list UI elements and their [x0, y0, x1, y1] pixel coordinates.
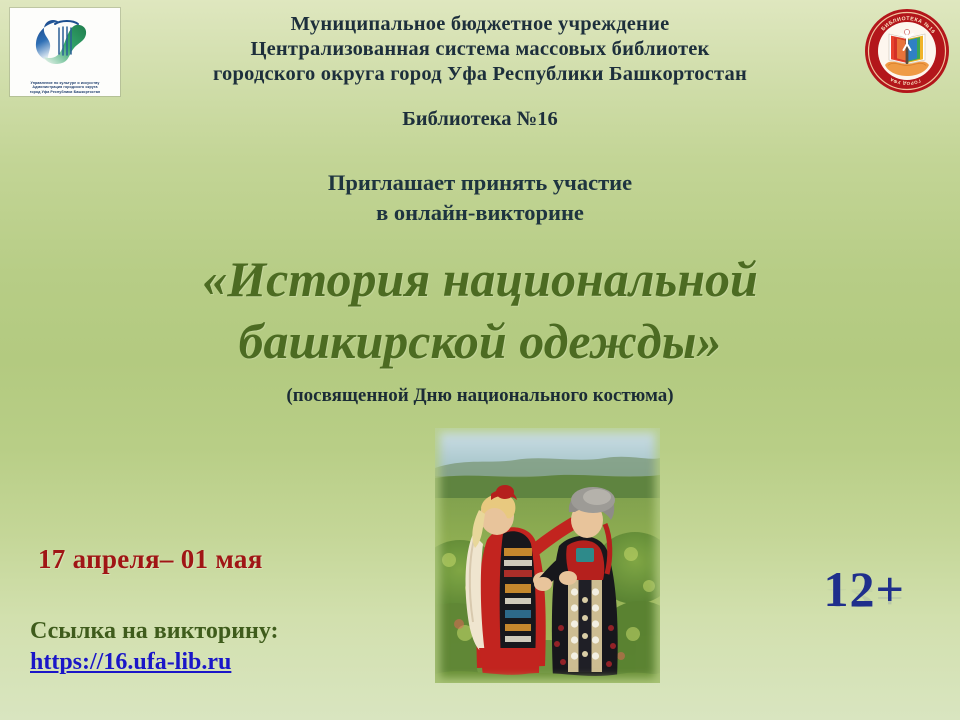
invitation-line: Приглашает принять участие	[0, 168, 960, 198]
lyre-bird-mark	[29, 14, 101, 70]
caption-line: город Уфа Республики Башкортостан	[12, 90, 118, 94]
costume-photo-graphic	[435, 428, 660, 683]
quiz-link-label: Ссылка на викторину:	[30, 616, 279, 647]
org-line: Централизованная система массовых библио…	[140, 37, 820, 62]
quiz-link-block: Ссылка на викторину: https://16.ufa-lib.…	[30, 616, 279, 678]
invitation-text: Приглашает принять участие в онлайн-викт…	[0, 168, 960, 228]
library-emblem: БИБЛИОТЕКА №16 ГОРОД УФА	[864, 8, 950, 94]
quiz-title: «История национальной башкирской одежды»	[0, 248, 960, 372]
quiz-title-line: башкирской одежды»	[0, 310, 960, 372]
event-dates: 17 апреля– 01 мая	[38, 544, 263, 575]
age-rating-badge: 12+ 12+	[824, 564, 906, 662]
quiz-poster: Управление по культуре и искусству Админ…	[0, 0, 960, 720]
org-line: городского округа город Уфа Республики Б…	[140, 62, 820, 87]
culture-logo-caption: Управление по культуре и искусству Админ…	[12, 81, 118, 94]
quiz-url-link[interactable]: https://16.ufa-lib.ru	[30, 647, 231, 678]
quiz-subtitle: (посвященной Дню национального костюма)	[0, 385, 960, 407]
culture-department-logo: Управление по культуре и искусству Админ…	[10, 8, 120, 96]
library-emblem-graphic: БИБЛИОТЕКА №16 ГОРОД УФА	[864, 8, 950, 94]
library-number: Библиотека №16	[0, 108, 960, 131]
org-line: Муниципальное бюджетное учреждение	[140, 12, 820, 37]
invitation-line: в онлайн-викторине	[0, 198, 960, 228]
age-rating-reflection: 12+	[824, 585, 906, 613]
bashkir-national-costume-photo	[435, 428, 660, 683]
quiz-title-line: «История национальной	[0, 248, 960, 310]
organization-header: Муниципальное бюджетное учреждение Центр…	[140, 12, 820, 87]
